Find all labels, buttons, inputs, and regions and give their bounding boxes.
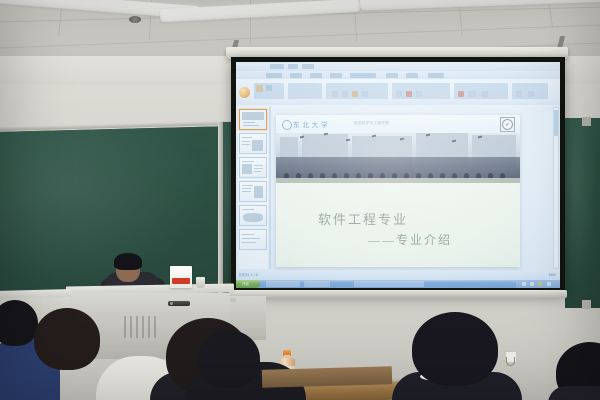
powerpoint-window: 东 北 大 学 信息科学与工程学院 ✔ xyxy=(236,62,560,288)
graduation-photo xyxy=(276,133,520,183)
ribbon-tab[interactable] xyxy=(386,73,398,78)
slide-subtitle: ——专业介绍 xyxy=(368,231,452,248)
seal-glyph: ✔ xyxy=(502,119,513,130)
projection-screen: 东 北 大 学 信息科学与工程学院 ✔ xyxy=(231,57,565,293)
paper-cup xyxy=(196,277,205,288)
ribbon-tab-strip[interactable] xyxy=(236,71,560,79)
slide-thumbnail[interactable] xyxy=(239,133,267,154)
podium-handle-dot xyxy=(170,302,173,305)
classroom-floor xyxy=(262,366,392,388)
projection-screen-surface: 东 北 大 学 信息科学与工程学院 ✔ xyxy=(236,62,560,288)
ribbon-tab[interactable] xyxy=(428,73,444,78)
system-tray[interactable] xyxy=(516,280,560,288)
powerpoint-title-bar xyxy=(236,62,560,71)
ribbon-tab[interactable] xyxy=(266,73,282,78)
start-button[interactable]: 开始 xyxy=(236,280,260,288)
volume-icon[interactable] xyxy=(522,282,526,286)
taskbar-item[interactable] xyxy=(354,281,424,287)
start-button-label: 开始 xyxy=(242,281,249,286)
ribbon-tab[interactable] xyxy=(310,73,322,78)
zoom-level[interactable]: 66% xyxy=(549,273,556,277)
podium-handle[interactable] xyxy=(168,301,190,306)
slide-thumbnail[interactable] xyxy=(239,181,267,202)
office-orb-button[interactable] xyxy=(239,87,250,98)
university-subtitle: 信息科学与工程学院 xyxy=(354,121,389,126)
presenter-hair xyxy=(114,253,142,270)
ime-icon[interactable] xyxy=(547,282,551,286)
slide-header-banner: 东 北 大 学 信息科学与工程学院 ✔ xyxy=(276,115,520,133)
university-name: 东 北 大 学 xyxy=(293,119,328,129)
podium-vent xyxy=(130,316,132,338)
slide-thumbnail[interactable] xyxy=(239,229,267,250)
lecture-hall-photo: 东 北 大 学 信息科学与工程学院 ✔ xyxy=(0,0,600,400)
slide-thumbnail[interactable] xyxy=(239,157,267,178)
blackboard-corner-bracket xyxy=(582,117,591,126)
slide-text-area: 软件工程专业 ——专业介绍 xyxy=(276,183,520,267)
tissue-box xyxy=(170,266,192,288)
slide-thumbnail[interactable] xyxy=(239,205,267,226)
podium-vent xyxy=(142,316,144,338)
screen-bottom-weight-bar xyxy=(229,290,567,298)
ribbon-tab[interactable] xyxy=(406,73,418,78)
audience-member-body xyxy=(548,386,600,400)
slide-canvas[interactable]: 东 北 大 学 信息科学与工程学院 ✔ xyxy=(276,115,520,267)
podium-vent xyxy=(148,316,150,338)
network-icon[interactable] xyxy=(530,282,534,286)
blackboard-right-surface xyxy=(565,118,600,308)
powerpoint-status-bar: 幻灯片 1 / 6 66% xyxy=(236,271,560,280)
vertical-scrollbar[interactable] xyxy=(553,107,559,269)
audience-member-head xyxy=(0,300,38,346)
slide-thumbnail[interactable] xyxy=(239,109,267,130)
slide-title: 软件工程专业 xyxy=(318,209,408,228)
blackboard-corner-bracket xyxy=(582,300,591,309)
ribbon-toolbar[interactable] xyxy=(236,79,560,106)
slide-thumbnail-panel[interactable] xyxy=(238,107,268,269)
podium-vent xyxy=(136,316,138,338)
powerpoint-workspace: 东 北 大 学 信息科学与工程学院 ✔ xyxy=(236,105,560,271)
university-logo-icon xyxy=(282,120,292,130)
audience-member-head xyxy=(412,312,498,386)
shield-icon[interactable] xyxy=(538,282,542,286)
scrollbar-thumb[interactable] xyxy=(554,110,558,136)
podium-vent xyxy=(154,316,156,338)
audience-member-head xyxy=(198,330,260,388)
slide-counter: 幻灯片 1 / 6 xyxy=(239,273,258,278)
audience-member-head xyxy=(34,308,100,370)
blackboard-left-edge-trim xyxy=(218,122,223,304)
windows-taskbar[interactable]: 开始 xyxy=(236,280,560,288)
university-seal-icon: ✔ xyxy=(500,117,515,132)
taskbar-item[interactable] xyxy=(266,281,300,287)
podium-vent xyxy=(124,316,126,338)
tissue-box-label xyxy=(172,278,190,284)
ribbon-tab[interactable] xyxy=(350,73,376,78)
ribbon-tab[interactable] xyxy=(290,73,302,78)
ceiling-downlight xyxy=(129,16,141,23)
wall-hook xyxy=(506,357,515,366)
ribbon-tab[interactable] xyxy=(330,73,342,78)
taskbar-item[interactable] xyxy=(304,281,330,287)
panel-splitter[interactable] xyxy=(269,107,271,269)
